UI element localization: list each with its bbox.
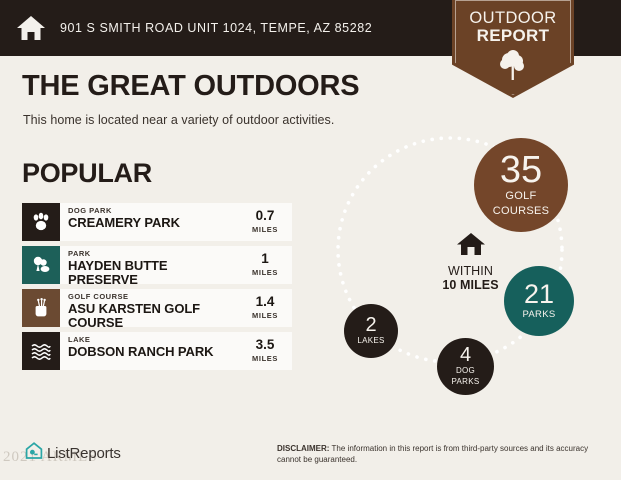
bubble-label-line-1: GOLF: [505, 191, 536, 203]
list-item-category: PARK: [68, 250, 232, 258]
badge-line-2: REPORT: [452, 27, 574, 45]
home-icon: [456, 243, 486, 260]
property-address: 901 S SMITH ROAD UNIT 1024, TEMPE, AZ 85…: [60, 21, 372, 35]
bubble-count: 21: [524, 282, 554, 308]
list-item-name: ASU KARSTEN GOLF COURSE: [68, 302, 232, 327]
list-item-text: GOLF COURSE ASU KARSTEN GOLF COURSE: [60, 289, 238, 327]
paw-icon: [22, 203, 60, 241]
bubble-count: 2: [365, 316, 376, 335]
badge-line-1: OUTDOOR: [452, 0, 574, 27]
distance-unit: MILES: [238, 311, 292, 320]
bubble-label-line-1: LAKES: [357, 337, 384, 346]
disclaimer: DISCLAIMER: The information in this repo…: [277, 443, 607, 466]
outdoor-report-badge: OUTDOOR REPORT: [452, 0, 574, 98]
list-item-text: LAKE DOBSON RANCH PARK: [60, 332, 238, 370]
popular-heading: POPULAR: [22, 158, 152, 189]
list-item-distance: 1 MILES: [238, 246, 292, 284]
golf-bag-icon: [22, 289, 60, 327]
list-item-category: GOLF COURSE: [68, 293, 232, 301]
distance-unit: MILES: [238, 268, 292, 277]
list-item-name: CREAMERY PARK: [68, 216, 232, 230]
list-item-distance: 1.4 MILES: [238, 289, 292, 327]
disclaimer-label: DISCLAIMER:: [277, 444, 329, 453]
distance-value: 1.4: [238, 295, 292, 309]
popular-list: DOG PARK CREAMERY PARK 0.7 MILES: [22, 203, 292, 375]
list-item[interactable]: GOLF COURSE ASU KARSTEN GOLF COURSE 1.4 …: [22, 289, 292, 327]
bubble-count: 35: [500, 152, 542, 188]
bubble-label-line-2: PARKS: [451, 378, 479, 387]
bubble-label-line-1: PARKS: [522, 310, 555, 320]
outdoor-report-page: 901 S SMITH ROAD UNIT 1024, TEMPE, AZ 85…: [0, 0, 621, 480]
trees-icon: [22, 246, 60, 284]
bubble-label-line-2: COURSES: [493, 206, 550, 218]
home-icon: [16, 15, 46, 41]
page-subtitle: This home is located near a variety of o…: [23, 113, 334, 127]
radius-line-1: WITHIN: [418, 264, 523, 278]
bubble-lakes[interactable]: 2 LAKES: [344, 304, 398, 358]
list-item-category: LAKE: [68, 336, 232, 344]
bubble-golf-courses[interactable]: 35 GOLF COURSES: [474, 138, 568, 232]
list-item-text: PARK HAYDEN BUTTE PRESERVE: [60, 246, 238, 284]
bubble-parks[interactable]: 21 PARKS: [504, 266, 574, 336]
waves-icon: [22, 332, 60, 370]
tree-icon: [452, 49, 574, 86]
list-item-distance: 0.7 MILES: [238, 203, 292, 241]
list-item-name: DOBSON RANCH PARK: [68, 345, 232, 359]
distance-value: 3.5: [238, 338, 292, 352]
distance-value: 1: [238, 252, 292, 266]
list-item[interactable]: PARK HAYDEN BUTTE PRESERVE 1 MILES: [22, 246, 292, 284]
distance-value: 0.7: [238, 209, 292, 223]
page-title: THE GREAT OUTDOORS: [22, 70, 359, 103]
distance-unit: MILES: [238, 225, 292, 234]
list-item[interactable]: LAKE DOBSON RANCH PARK 3.5 MILES: [22, 332, 292, 370]
list-item-text: DOG PARK CREAMERY PARK: [60, 203, 238, 241]
bubble-dog-parks[interactable]: 4 DOG PARKS: [437, 338, 494, 395]
list-item[interactable]: DOG PARK CREAMERY PARK 0.7 MILES: [22, 203, 292, 241]
bubble-count: 4: [460, 346, 471, 365]
distance-unit: MILES: [238, 354, 292, 363]
radius-center: WITHIN 10 MILES: [418, 232, 523, 292]
listreports-logo-text: ListReports: [47, 445, 121, 462]
list-item-category: DOG PARK: [68, 207, 232, 215]
list-item-distance: 3.5 MILES: [238, 332, 292, 370]
listreports-logo[interactable]: ListReports: [24, 441, 121, 466]
list-item-name: HAYDEN BUTTE PRESERVE: [68, 259, 232, 284]
house-logo-icon: [24, 441, 44, 466]
bubble-label-line-1: DOG: [456, 367, 475, 376]
radius-visualization: WITHIN 10 MILES 35 GOLF COURSES 21 PARKS…: [318, 128, 621, 418]
